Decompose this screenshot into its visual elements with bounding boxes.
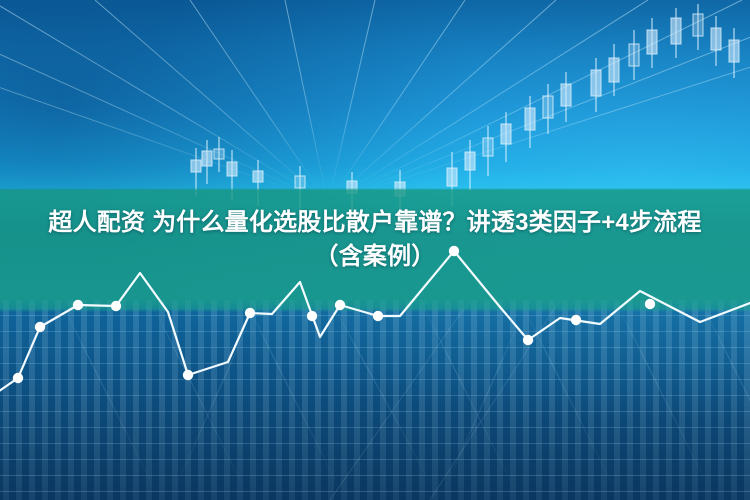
- cover-canvas: 超人配资 为什么量化选股比散户靠谱？讲透3类因子+4步流程 （含案例）: [0, 0, 750, 500]
- trend-polyline: [0, 0, 750, 500]
